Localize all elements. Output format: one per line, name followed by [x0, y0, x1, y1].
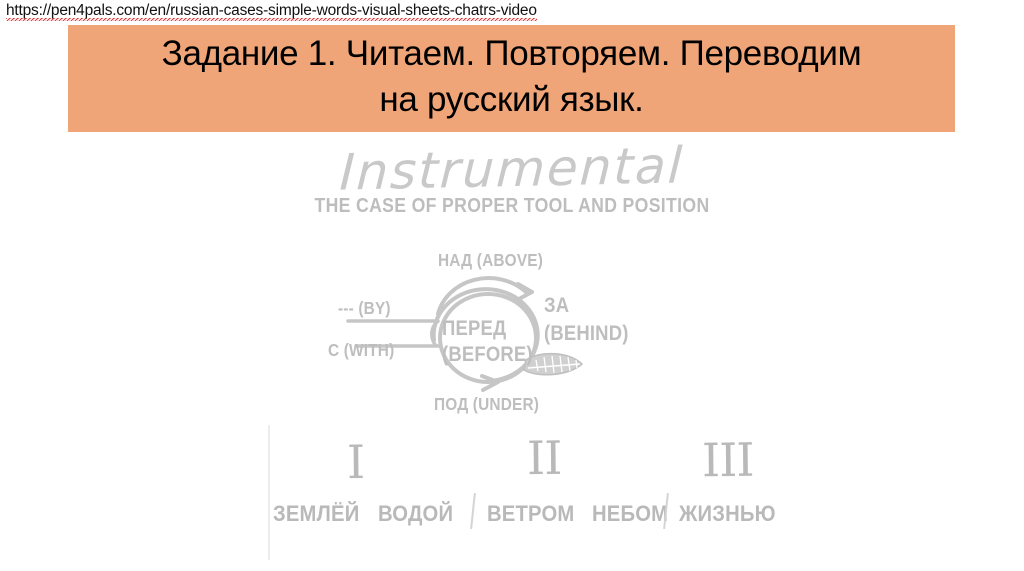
preposition-label-behind: ЗА (BEHIND)	[544, 292, 629, 348]
example-word-vodoy: ВОДОЙ	[378, 501, 453, 527]
preposition-before-line-1: ПЕРЕД	[442, 317, 506, 340]
preposition-behind-line-2: (BEHIND)	[544, 322, 629, 345]
preposition-label-by: --- (BY)	[338, 298, 391, 319]
preposition-behind-line-1: ЗА	[544, 294, 569, 317]
declension-examples: I II III ЗЕМЛЁЙ ВОДОЙ ВЕТРОМ НЕБОМ ЖИЗНЬ…	[265, 425, 810, 565]
examples-left-rule	[268, 425, 270, 560]
preposition-label-above: НАД (ABOVE)	[438, 250, 543, 271]
task-title-line-2: на русский язык.	[379, 77, 643, 123]
preposition-label-with: С (WITH)	[328, 340, 394, 361]
preposition-diagram: НАД (ABOVE) --- (BY) С (WITH) ПЕРЕД (BEF…	[330, 250, 670, 420]
examples-divider-1	[470, 493, 476, 529]
task-title-line-1: Задание 1. Читаем. Повторяем. Переводим	[162, 31, 862, 77]
example-word-zhiznyu: ЖИЗНЬЮ	[679, 501, 776, 527]
declension-numeral-3: III	[702, 437, 754, 484]
example-word-vetrom: ВЕТРОМ	[487, 501, 574, 527]
example-word-nebom: НЕБОМ	[592, 501, 668, 527]
page-url-text[interactable]: https://pen4pals.com/en/russian-cases-si…	[6, 2, 537, 20]
preposition-before-line-2: (BEFORE)	[442, 343, 533, 366]
case-heading: Instrumental THE CASE OF PROPER TOOL AND…	[0, 140, 1024, 218]
preposition-label-under: ПОД (UNDER)	[434, 394, 539, 415]
case-title-handwritten: Instrumental	[339, 136, 686, 201]
example-word-zemlyoy: ЗЕМЛЁЙ	[273, 501, 359, 527]
url-text: https://pen4pals.com/en/russian-cases-si…	[6, 2, 537, 21]
declension-numeral-2: II	[527, 435, 562, 481]
case-subtitle: THE CASE OF PROPER TOOL AND POSITION	[72, 194, 953, 218]
worksheet-image: Instrumental THE CASE OF PROPER TOOL AND…	[0, 135, 1024, 571]
task-title-banner: Задание 1. Читаем. Повторяем. Переводим …	[68, 25, 955, 132]
declension-numeral-1: I	[347, 439, 365, 485]
preposition-label-before: ПЕРЕД (BEFORE)	[442, 316, 533, 368]
